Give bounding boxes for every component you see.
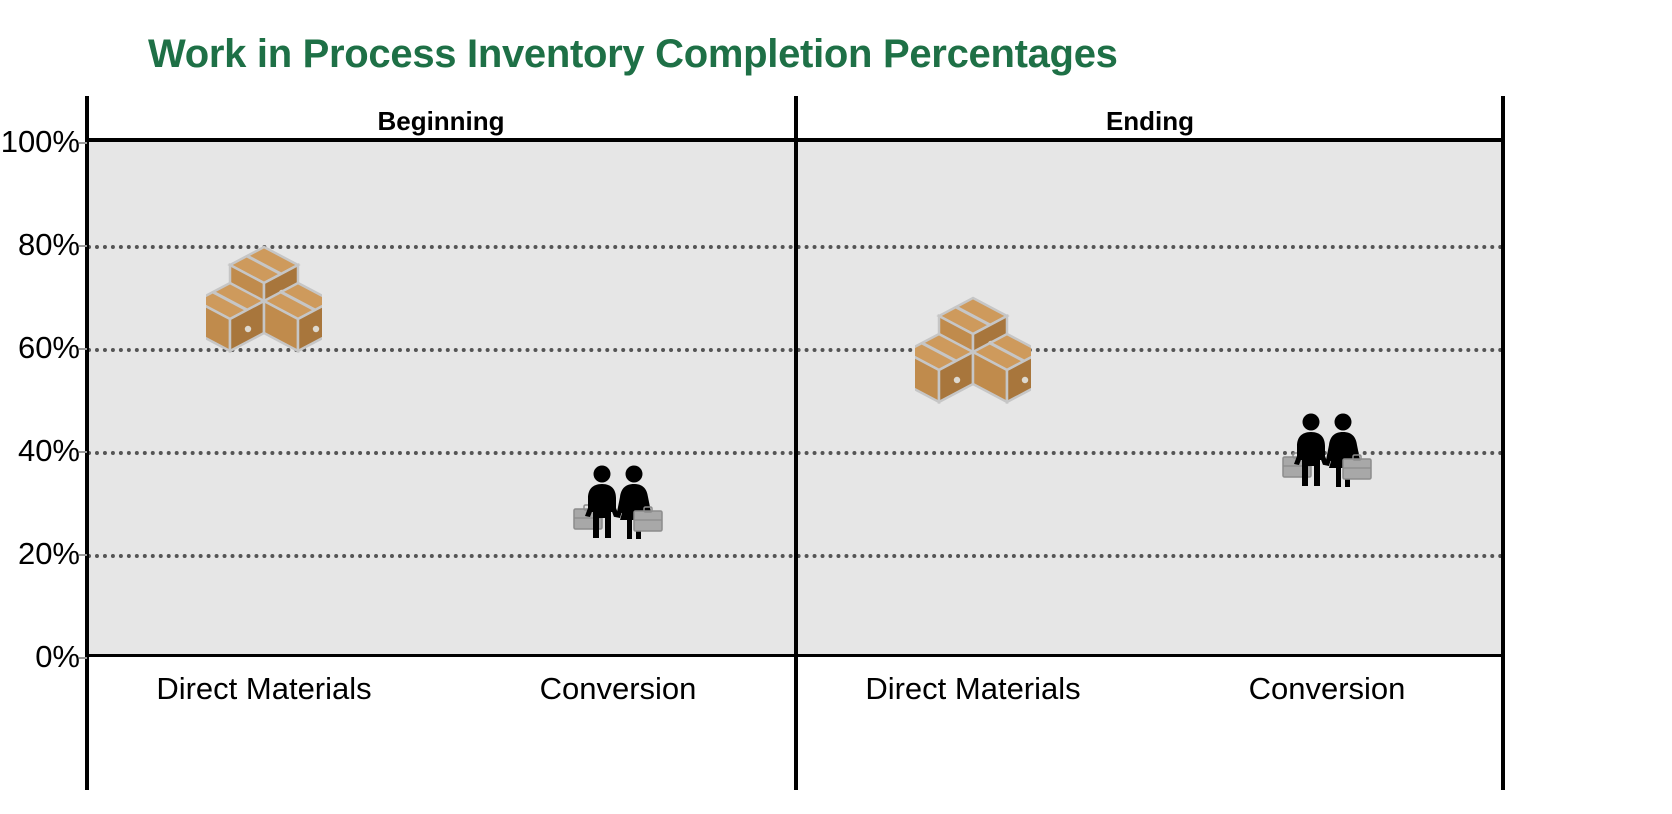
x-label-beginning-direct-materials: Direct Materials [87,663,441,715]
y-tick-mark-100 [79,142,87,144]
x-label-ending-direct-materials: Direct Materials [796,663,1150,715]
y-axis-tick-labels: 100% 80% 60% 40% 20% 0% [0,142,80,657]
people-icon [572,464,664,542]
x-label-ending-conversion: Conversion [1150,663,1504,715]
y-tick-mark-0 [79,657,87,659]
chart-title: Work in Process Inventory Completion Per… [148,32,1348,76]
panel-header-beginning: Beginning [87,104,795,138]
y-tick-label-80: 80% [0,227,80,263]
x-axis-category-labels: Direct Materials Conversion Direct Mater… [87,663,1504,723]
y-tick-mark-80 [79,245,87,247]
x-label-beginning-conversion: Conversion [441,663,795,715]
boxes-icon [206,241,322,353]
y-tick-label-40: 40% [0,433,80,469]
y-tick-label-60: 60% [0,330,80,366]
panel-header-ending: Ending [796,104,1504,138]
y-tick-label-100: 100% [0,124,80,160]
y-tick-mark-60 [79,348,87,350]
y-tick-label-0: 0% [0,639,80,675]
chart-figure: Work in Process Inventory Completion Per… [0,0,1672,814]
y-tick-label-20: 20% [0,536,80,572]
y-tick-mark-40 [79,451,87,453]
y-tick-mark-20 [79,554,87,556]
